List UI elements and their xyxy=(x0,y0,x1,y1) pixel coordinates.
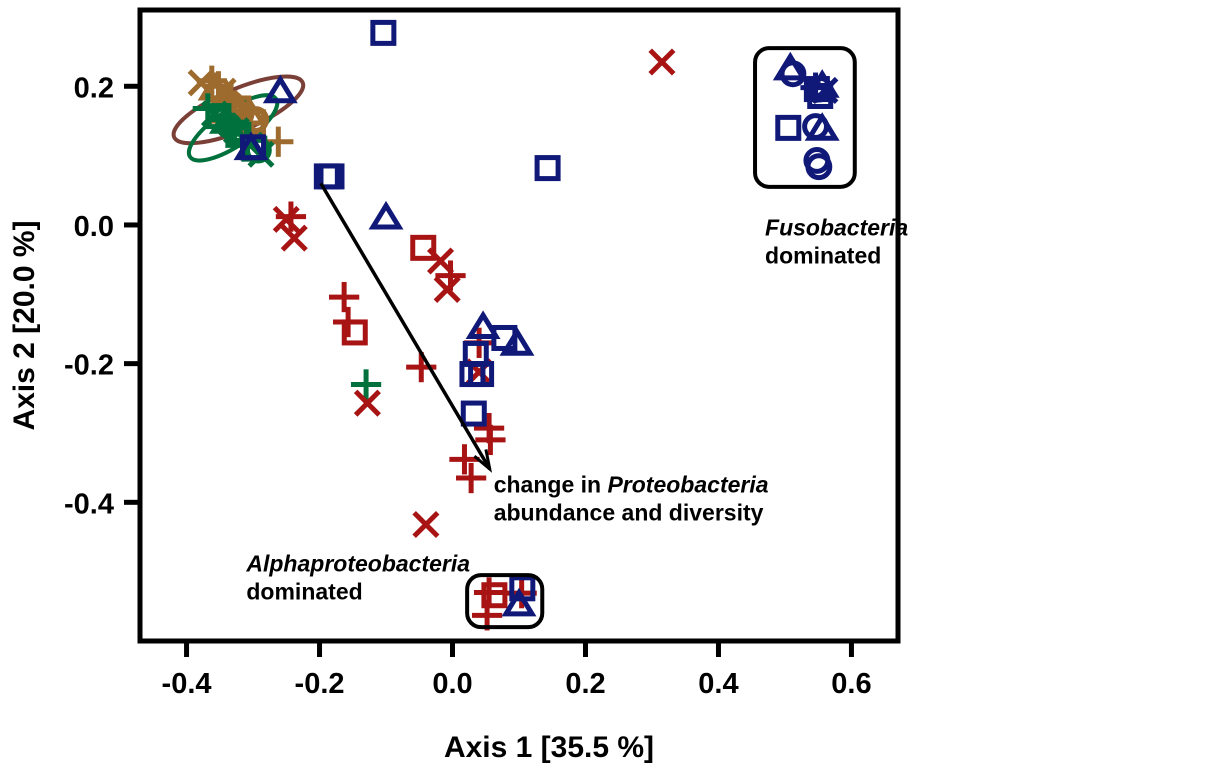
x-tick-label: 0.4 xyxy=(698,668,738,700)
fusobacteria-label-line2: dominated xyxy=(765,242,881,268)
y-axis-title: Axis 2 [20.0 %] xyxy=(8,220,41,430)
y-tick-label: -0.2 xyxy=(64,350,114,382)
x-tick-label: 0.0 xyxy=(432,668,472,700)
proteobacteria-arrow-label-line1: change in Proteobacteria xyxy=(494,472,769,498)
alphaproteobacteria-label-line2: dominated xyxy=(246,579,362,605)
fusobacteria-label-line1: Fusobacteria xyxy=(765,214,908,240)
y-tick-label: -0.4 xyxy=(64,488,114,520)
y-tick-label: 0.0 xyxy=(74,211,114,243)
x-axis-title: Axis 1 [35.5 %] xyxy=(444,731,654,764)
x-tick-label: 0.2 xyxy=(565,668,605,700)
figure-root: { "chart_data": { "type": "scatter", "ti… xyxy=(0,0,1206,769)
y-tick-label: 0.2 xyxy=(74,72,114,104)
x-tick-label: 0.6 xyxy=(831,668,871,700)
pcoa-scatter-plot: -0.4-0.20.00.20.40.60.20.0-0.2-0.4Axis 1… xyxy=(0,0,1206,769)
figure-background xyxy=(0,0,1206,769)
proteobacteria-arrow-label-line2: abundance and diversity xyxy=(494,500,764,526)
x-tick-label: -0.4 xyxy=(162,668,212,700)
x-tick-label: -0.2 xyxy=(295,668,345,700)
alphaproteobacteria-label-line1: Alphaproteobacteria xyxy=(245,551,470,577)
